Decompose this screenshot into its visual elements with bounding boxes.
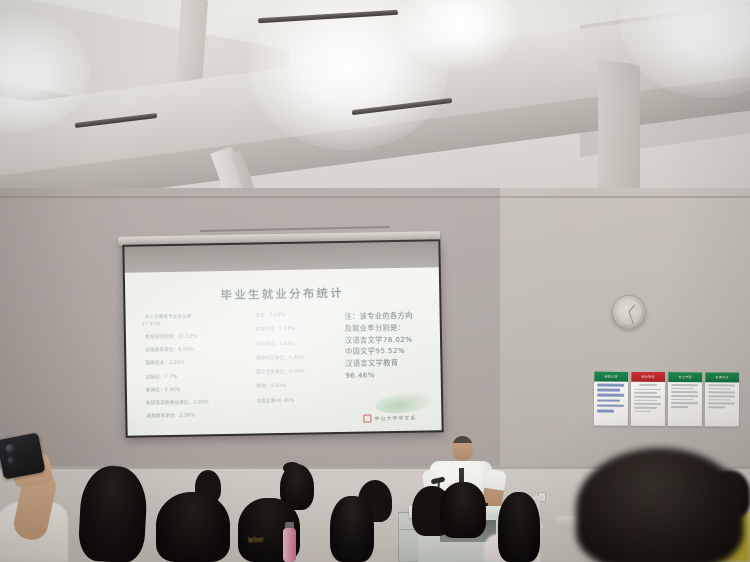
bullet-label: 高等学校 [255,327,274,332]
projected-slide: 毕业生就业分布统计 中小学教育专业就业率27.63% 教育研究机构：21.12%… [125,267,442,435]
poster-header: 安全守则 [668,372,702,382]
audience-head [440,482,486,538]
poster-header-label: 通知公告 [594,371,628,381]
slide-title: 毕业生就业分布统计 [125,283,439,304]
slide-bullet: 出版社：7.7% [143,372,250,381]
slide-bullet: 其他：0.02% [253,383,339,392]
bullet-value: 8.93% [178,348,194,353]
slide-note: 注：该专业的各方向 及就业率分别是： 汉语言文学78.02% 中国文学95.52… [344,309,432,381]
bullet-value: 96.46% [275,399,294,404]
back-wall-right-panel [500,188,750,488]
poster-header-label: 规章制度 [631,372,665,382]
slide-bullet: 医疗卫生单位：0.05% [253,368,339,377]
bullet-label: 教育研究机构 [145,335,173,340]
poster-body [631,382,665,417]
bullet-label: 中小学教育专业就业率 [145,315,192,321]
slide-bullet: 高等教育单位：8.93% [142,346,249,355]
poster-header: 通知公告 [594,371,628,381]
audience-head [78,464,149,562]
slide-column-middle: 企业：2.23% 高等学校：1.57% 事业单位：1.44% 城镇社区单位：0.… [252,311,340,427]
slide-bullet: 总就业率96.46% [253,397,339,406]
bullet-value: 21.12% [178,335,197,340]
bullet-value: 0.05% [289,370,305,375]
slide-bullet: 中小学教育专业就业率27.63% [142,313,249,329]
phone-camera-icon [5,443,16,454]
audience-head [330,496,374,562]
poster-body [594,381,628,416]
slide-bullet: 教育研究机构：21.12% [142,333,249,342]
projection-screen: 毕业生就业分布统计 中小学教育专业就业率27.63% 教育研究机构：21.12%… [122,239,443,438]
bullet-value: 1.57% [279,327,295,332]
logo-seal-icon [363,414,371,422]
bullet-value: 2.23% [269,313,285,318]
bullet-value: 0.02% [270,384,286,389]
poster-body [668,382,702,412]
poster-header-label: 安全守则 [668,372,702,382]
slide-bullet: 国家机关：3.28% [142,359,249,368]
bullet-value: 2.96% [165,387,181,392]
slide-column-left: 中小学教育专业就业率27.63% 教育研究机构：21.12% 高等教育单位：8.… [136,313,250,430]
bullet-value: 3.28% [169,361,185,366]
slide-bullet: 城镇社区单位：0.46% [253,354,339,363]
bullet-label: 其他 [256,385,265,390]
slide-bullet: 其他教育单位：2.59% [143,411,250,420]
bullet-value: 27.63% [142,322,161,327]
bullet-value: 2.59% [179,413,195,418]
bullet-label: 新闻社 [146,388,160,393]
smartphone [0,432,45,479]
audience-head [498,492,540,562]
slide-bullet: 高等学校：1.57% [252,325,338,334]
slide-bullet: 科研及其他事业单位：2.83% [143,398,250,407]
wall-poster: 通知公告 [594,371,628,425]
logo-text: 中山大学中文系 [374,415,416,423]
bullet-value: 1.44% [279,341,295,346]
bullet-value: 7.7% [165,374,178,379]
poster-header: 规章制度 [631,372,665,382]
wall-poster: 安全守则 [668,372,702,426]
bullet-label: 城镇社区单位 [256,356,284,361]
bullet-label: 高等教育单位 [145,348,173,353]
clock-face [616,299,642,325]
bullet-label: 事业单位 [256,342,275,347]
foreground-head-blurred [576,448,744,562]
wall-poster-group: 通知公告 规章制度 安全守则 [594,371,739,426]
poster-body [705,382,739,412]
wall-poster: 规章制度 [631,372,665,426]
bullet-label: 医疗卫生单位 [256,370,284,375]
note-line: 96.46% [345,368,432,381]
bullet-label: 其他教育单位 [146,414,174,419]
slide-logo: 中山大学中文系 [363,394,434,425]
bullet-label: 企业 [255,313,264,318]
bullet-value: 2.83% [193,400,209,405]
wall-seam-line [0,196,750,198]
slide-bullet: 事业单位：1.44% [252,340,338,349]
water-bottle [283,528,296,562]
slide-bullet: 企业：2.23% [252,311,338,320]
audience-head [156,492,230,562]
phone-camera-icon [7,456,15,464]
bullet-value: 0.46% [289,356,305,361]
bullet-label: 科研及其他事业单位 [146,400,188,406]
slide-bullet: 新闻社：2.96% [143,385,250,394]
bullet-label: 国家机关 [146,362,165,367]
poster-header-label: 管理办法 [705,372,739,382]
wall-clock-icon [612,295,646,329]
clock-minute-hand [628,312,633,324]
lecture-hall-photo: 通知公告 规章制度 安全守则 [0,0,750,562]
bullet-label: 出版社 [146,375,160,380]
poster-header: 管理办法 [705,372,739,382]
wall-poster: 管理办法 [705,372,739,426]
bullet-label: 总就业率 [257,399,276,404]
